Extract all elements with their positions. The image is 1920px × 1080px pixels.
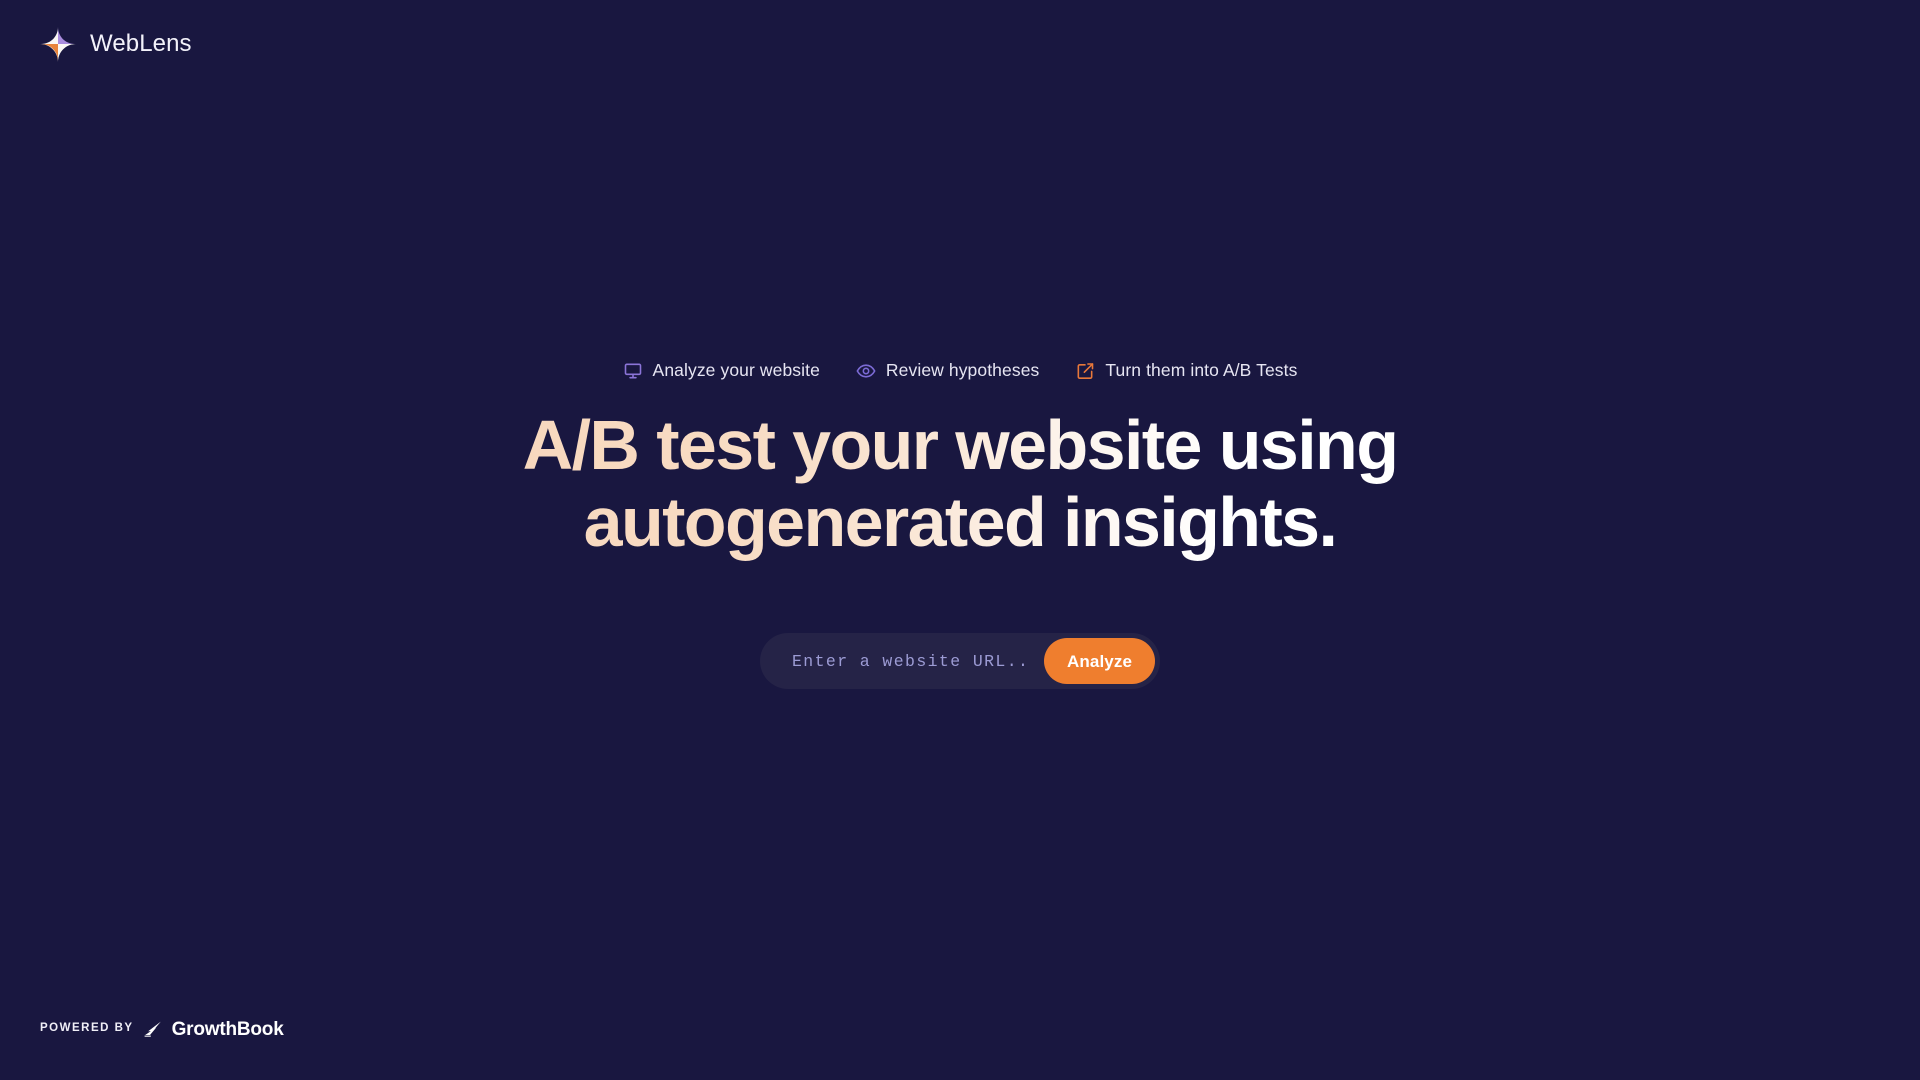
headline-line-2: autogenerated insights. [523,484,1398,561]
partner-name: GrowthBook [172,1020,284,1039]
eye-icon [856,361,876,381]
page-title: A/B test your website using autogenerate… [523,403,1398,571]
feature-turn-them-into-ab-tests[interactable]: Turn them into A/B Tests [1075,361,1297,381]
url-search-bar[interactable]: Analyze [760,633,1160,689]
feature-label: Turn them into A/B Tests [1105,362,1297,380]
website-url-input[interactable] [760,633,1044,689]
feature-row: Analyze your website Review hypotheses T… [623,361,1298,381]
growthbook-sail-icon [143,1021,163,1037]
monitor-icon [623,361,643,381]
hero-section: Analyze your website Review hypotheses T… [0,0,1920,1080]
feature-analyze-your-website[interactable]: Analyze your website [623,361,820,381]
headline-line-1: A/B test your website using [523,407,1398,484]
feature-review-hypotheses[interactable]: Review hypotheses [856,361,1039,381]
powered-by-label: POWERED BY [40,1023,134,1035]
feature-label: Review hypotheses [886,362,1039,380]
external-link-icon [1075,361,1095,381]
feature-label: Analyze your website [653,362,820,380]
analyze-button[interactable]: Analyze [1044,638,1155,684]
powered-by-footer: POWERED BY GrowthBook [40,1018,284,1040]
